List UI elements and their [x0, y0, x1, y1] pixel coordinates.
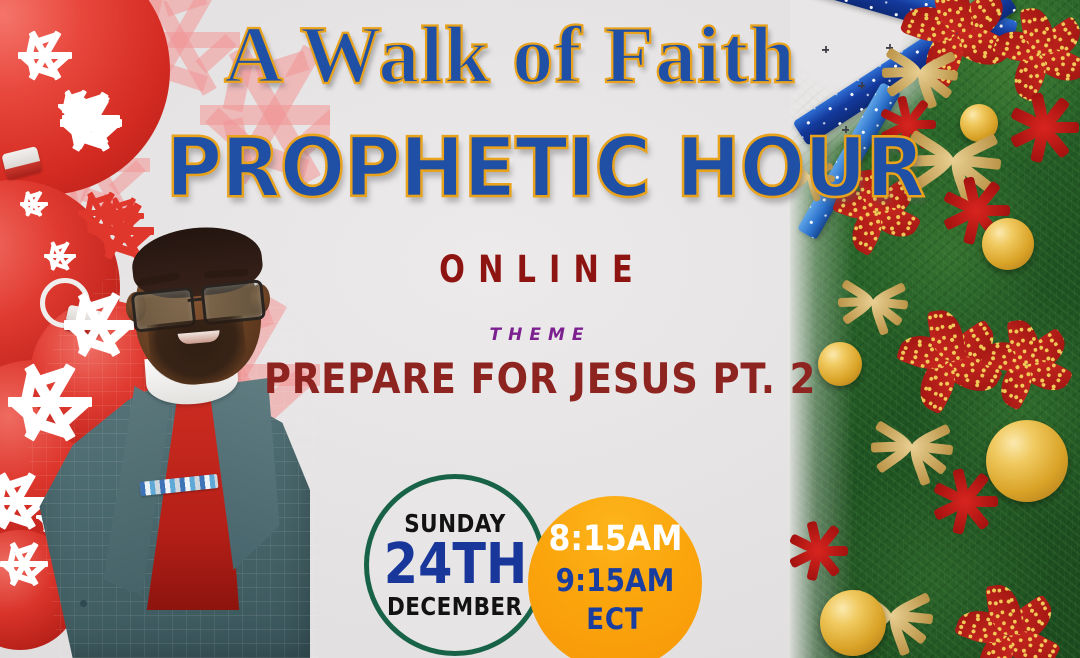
date-badge: SUNDAY 24TH DECEMBER: [364, 474, 546, 656]
subtitle-online: ONLINE: [98, 248, 988, 291]
time-primary: 8:15AM: [548, 520, 682, 559]
christmas-service-flyer: A Walk of Faith PROPHETIC HOUR ONLINE TH…: [0, 0, 1080, 658]
time-timezone: ECT: [586, 603, 643, 636]
date-day-number: 24TH: [383, 536, 526, 593]
theme-text: PREPARE FOR JESUS PT. 2: [65, 354, 1015, 403]
time-badge: 8:15AM 9:15AM ECT: [528, 496, 702, 658]
time-secondary: 9:15AM: [556, 559, 675, 604]
page-title-script: A Walk of Faith: [0, 14, 1020, 96]
page-title-main: PROPHETIC HOUR: [33, 128, 1058, 210]
date-month: DECEMBER: [387, 592, 522, 621]
theme-label: THEME: [0, 325, 1080, 345]
